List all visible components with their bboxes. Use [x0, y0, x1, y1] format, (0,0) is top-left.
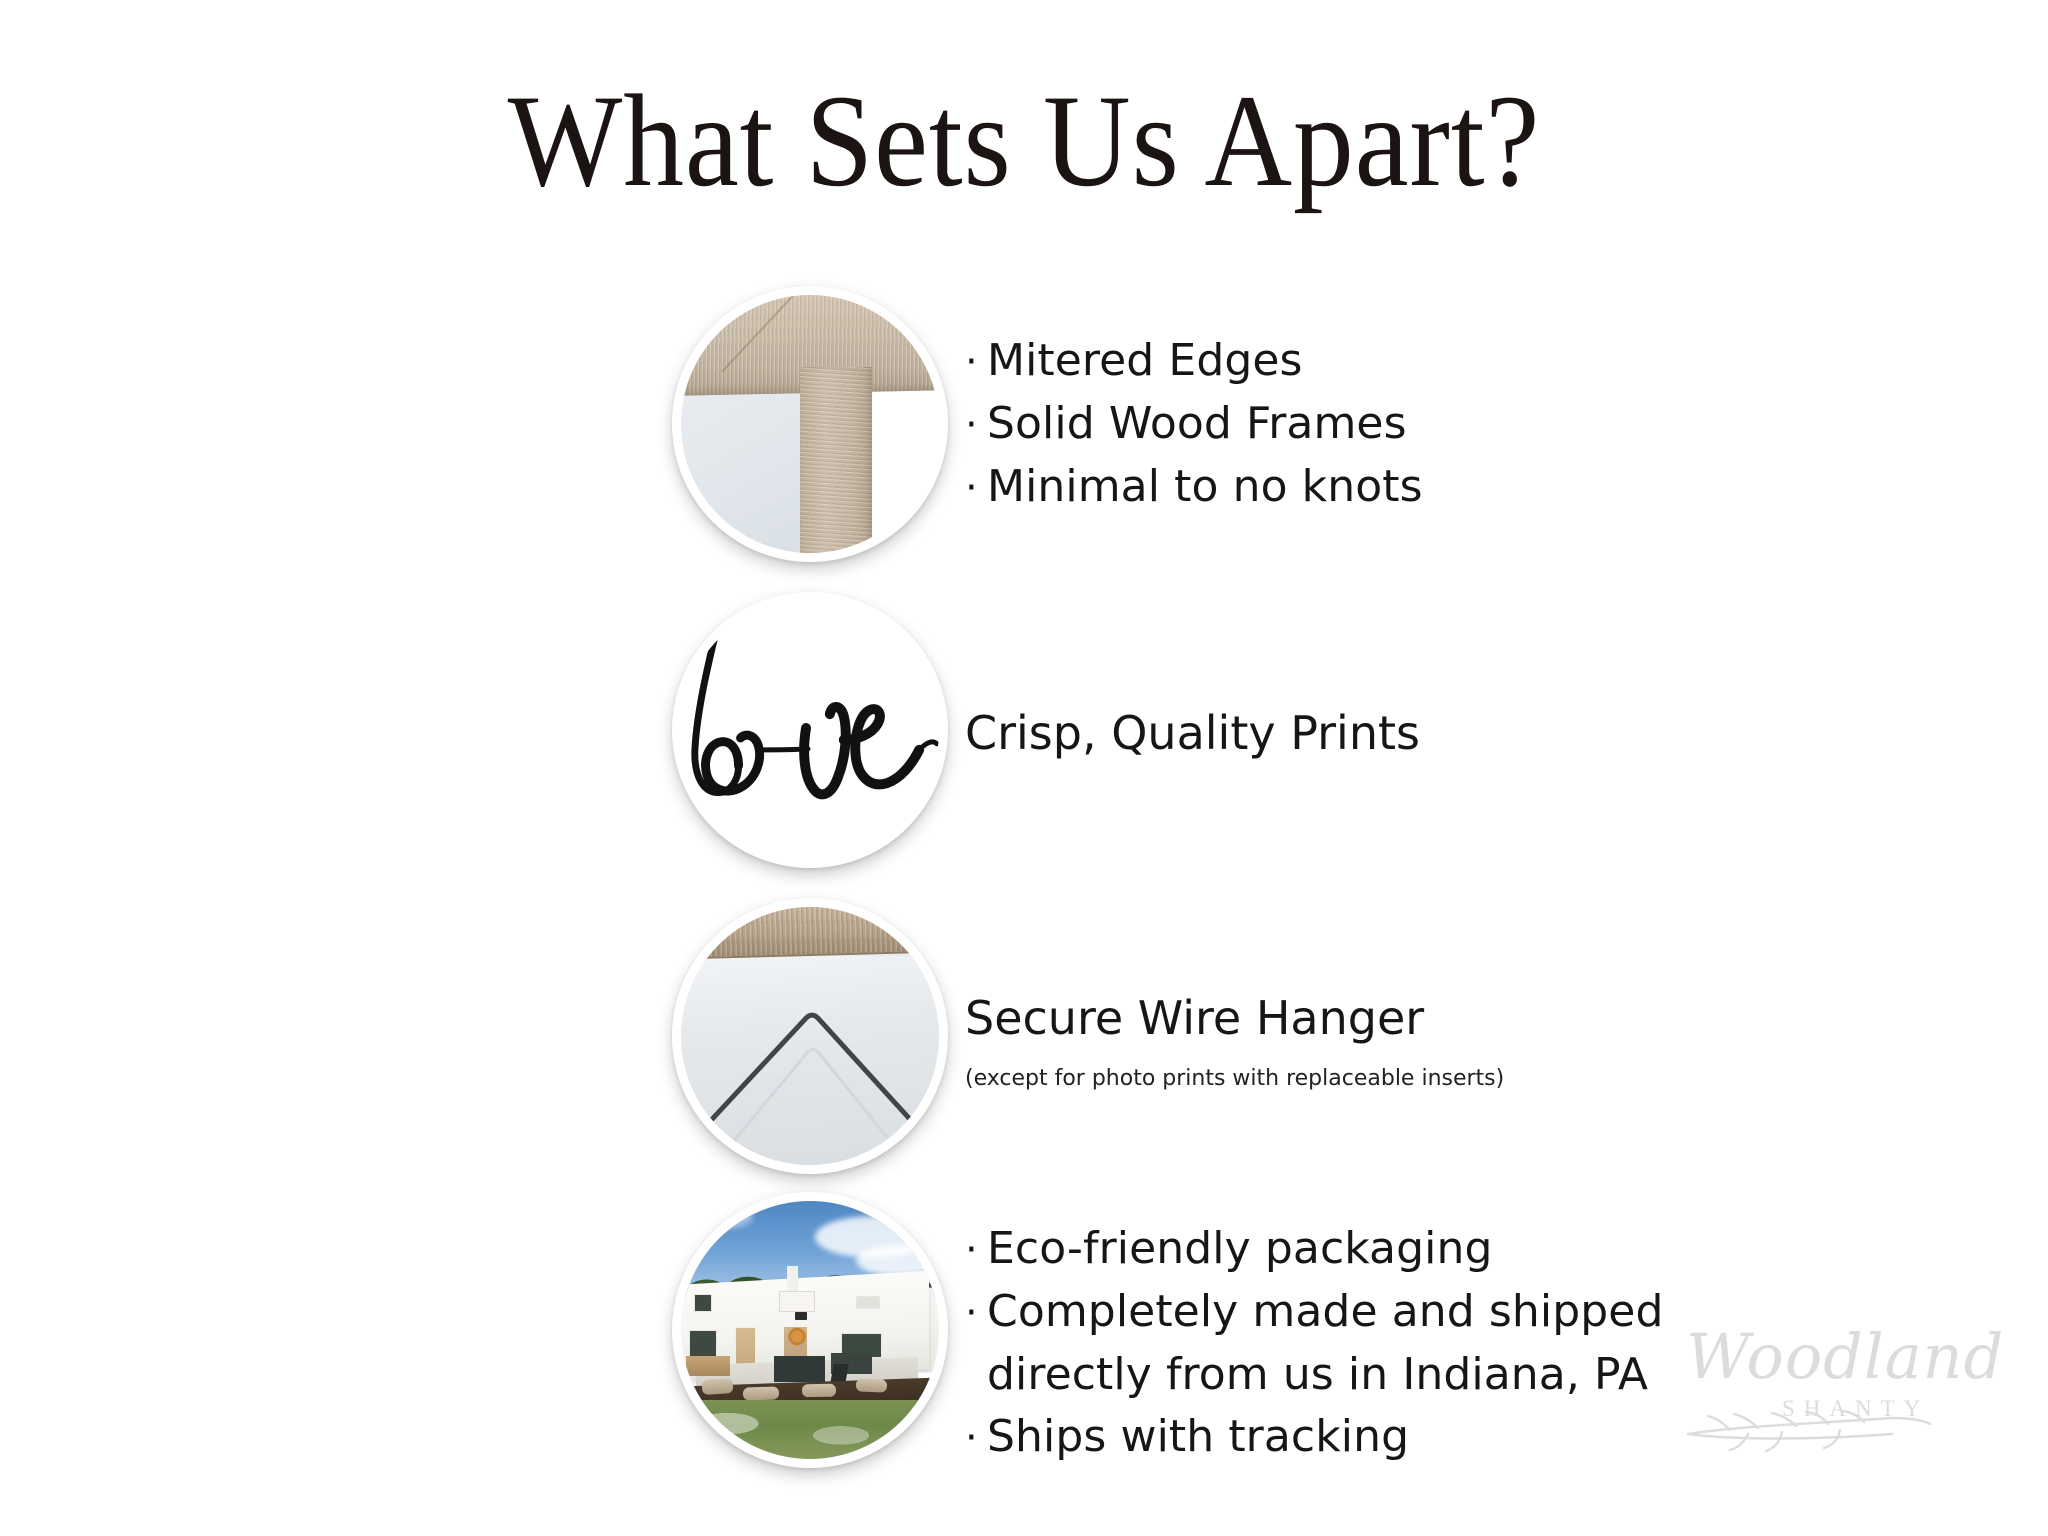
- door-wreath: [788, 1325, 806, 1348]
- feature-heading: Secure Wire Hanger: [965, 988, 1504, 1048]
- mitered-wood-frame-corner-photo: [681, 295, 939, 553]
- bullet-marker: ·: [965, 1282, 987, 1344]
- feature-bullet: · Minimal to no knots: [965, 456, 1423, 519]
- wire-hanger-shape: [681, 907, 939, 1165]
- bullet-marker: ·: [965, 457, 987, 519]
- feature-text-frames: · Mitered Edges · Solid Wood Frames · Mi…: [965, 330, 1423, 519]
- feature-bullet: · Ships with tracking: [965, 1406, 1663, 1469]
- love-script-artwork: [681, 601, 939, 859]
- woodland-shanty-storefront-photo: [681, 1201, 939, 1459]
- feature-text-prints: Crisp, Quality Prints: [965, 703, 1420, 763]
- bullet-marker: ·: [965, 331, 987, 393]
- window: [689, 1330, 717, 1358]
- bullet-text: directly from us in Indiana, PA: [987, 1344, 1663, 1406]
- badge-image-clip: [681, 295, 939, 553]
- landscape-rock: [856, 1378, 887, 1392]
- feature-bullet: · Completely made and shipped: [965, 1281, 1663, 1344]
- feature-note: (except for photo prints with replaceabl…: [965, 1062, 1504, 1096]
- bullet-text: Solid Wood Frames: [987, 393, 1423, 455]
- bullet-marker: ·: [965, 1219, 987, 1281]
- bullet-marker: ·: [965, 394, 987, 456]
- circle-badge: [672, 286, 948, 562]
- feature-bullet: · Solid Wood Frames: [965, 393, 1423, 456]
- bullet-marker: ·: [965, 1407, 987, 1469]
- feature-text-shipping: · Eco-friendly packaging · Completely ma…: [965, 1218, 1663, 1469]
- feature-bullet: · Eco-friendly packaging: [965, 1218, 1663, 1281]
- frame-moulding-right: [800, 367, 872, 553]
- wire-hanger-frame-back-photo: [681, 907, 939, 1165]
- window: [856, 1296, 879, 1309]
- feature-text-hanger: Secure Wire Hanger (except for photo pri…: [965, 988, 1504, 1096]
- wall-lamp: [795, 1312, 808, 1320]
- feature-bullet-continuation: directly from us in Indiana, PA: [965, 1344, 1663, 1406]
- chimney: [787, 1266, 799, 1292]
- badge-image-clip: [681, 601, 939, 859]
- bullet-text: Mitered Edges: [987, 330, 1423, 392]
- badge-image-clip: [681, 1201, 939, 1459]
- window: [694, 1294, 712, 1312]
- circle-badge: [672, 592, 948, 868]
- badge-image-clip: [681, 907, 939, 1165]
- feature-image-shipping: [672, 1192, 948, 1468]
- circle-badge: [672, 1192, 948, 1468]
- feature-image-frames: [672, 286, 948, 562]
- feature-image-hanger: [672, 898, 948, 1174]
- landscape-rock: [743, 1386, 780, 1400]
- landscape-rock: [802, 1384, 836, 1397]
- love-script-print-photo: [681, 601, 939, 859]
- patio-table: [774, 1356, 826, 1382]
- feature-heading: Crisp, Quality Prints: [965, 703, 1420, 763]
- bullet-text: Completely made and shipped: [987, 1281, 1663, 1343]
- bullet-text: Ships with tracking: [987, 1406, 1663, 1468]
- feature-image-prints: [672, 592, 948, 868]
- feature-bullet: · Mitered Edges: [965, 330, 1423, 393]
- bullet-text: Minimal to no knots: [987, 456, 1423, 518]
- shop-sign: [779, 1291, 815, 1312]
- landscape-rock: [701, 1378, 733, 1396]
- bench: [686, 1356, 730, 1377]
- lawn: [681, 1400, 939, 1459]
- bullet-text: Eco-friendly packaging: [987, 1218, 1663, 1280]
- page-title: What Sets Us Apart?: [82, 72, 1966, 211]
- circle-badge: [672, 898, 948, 1174]
